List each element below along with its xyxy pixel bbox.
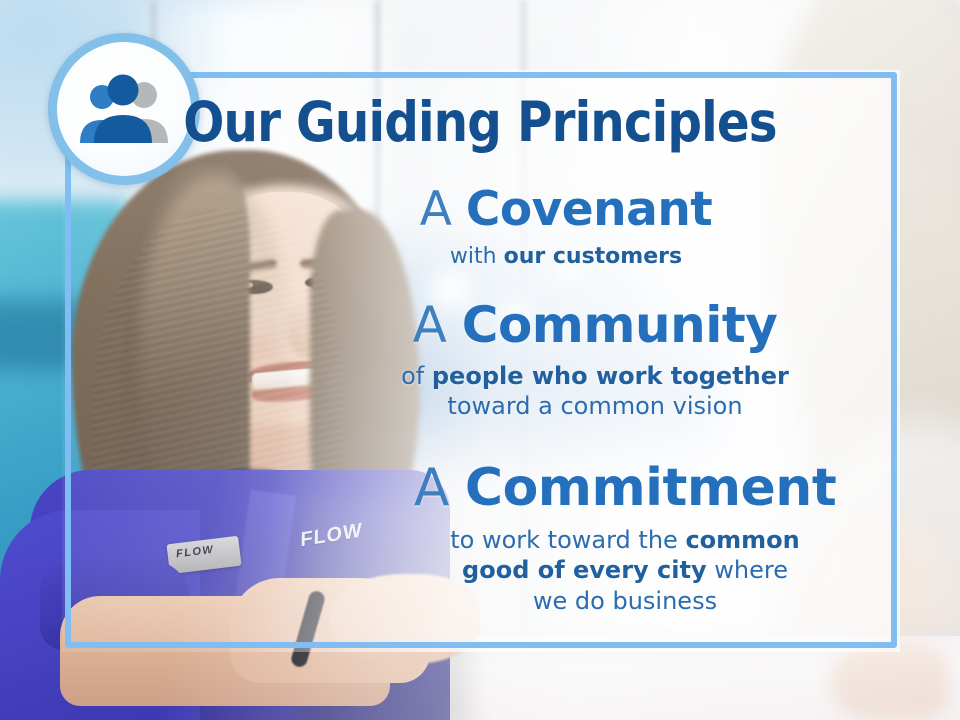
principle-headline-covenant: A Covenant (172, 186, 960, 234)
subtext-line: of people who work together (230, 361, 960, 391)
principle-subtext-commitment: to work toward the commongood of every c… (290, 525, 960, 616)
principle-headline-commitment: A Commitment (290, 462, 960, 515)
principle-keyword-community: Community (462, 296, 778, 354)
principle-headline-community: A Community (230, 300, 960, 351)
principle-article-commitment: A (414, 458, 449, 518)
subtext-line: we do business (290, 586, 960, 616)
principle-block-commitment: A Commitment to work toward the commongo… (0, 462, 960, 616)
banner-canvas: FLOW FLOW Our Guiding Principles (0, 0, 960, 720)
principle-subtext-covenant: with our customers (172, 243, 960, 271)
principle-article-covenant: A (420, 182, 452, 237)
principle-block-community: A Community of people who work togethert… (0, 300, 960, 421)
principle-keyword-commitment: Commitment (465, 458, 836, 518)
subtext-line: toward a common vision (230, 391, 960, 421)
background-person-hand (830, 640, 950, 720)
principle-subtext-community: of people who work togethertoward a comm… (230, 361, 960, 421)
principle-keyword-covenant: Covenant (466, 182, 712, 237)
subtext-line: to work toward the common (290, 525, 960, 555)
principle-article-community: A (413, 296, 447, 354)
subtext-line: with our customers (172, 243, 960, 271)
page-title: Our Guiding Principles (58, 95, 903, 150)
principle-block-covenant: A Covenant with our customers (0, 186, 960, 271)
subtext-line: good of every city where (290, 555, 960, 585)
